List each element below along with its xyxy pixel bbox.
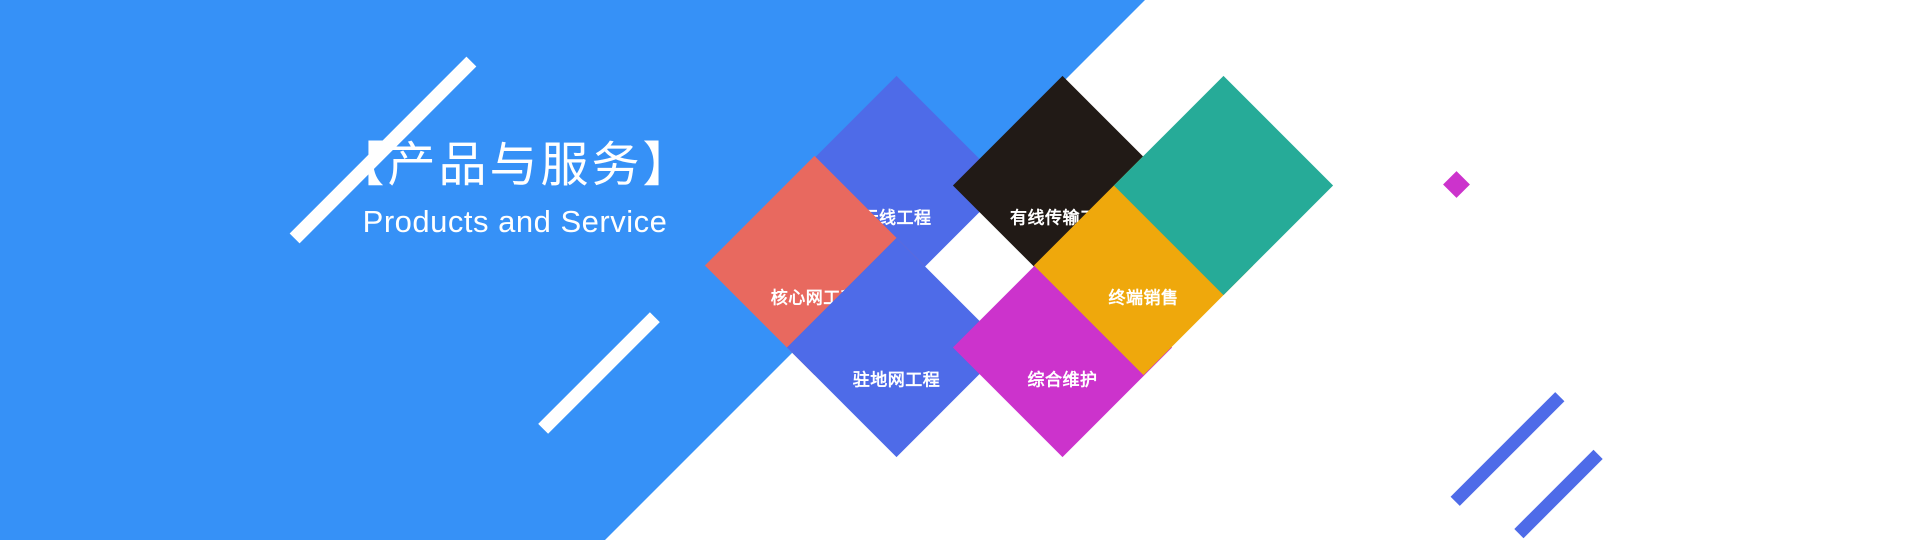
blue-diagonal-stripe-inner [1514, 450, 1602, 538]
small-magenta-diamond [1443, 171, 1470, 198]
products-and-service-banner: 【产品与服务】 Products and Service 无线工程核心网工程驻地… [0, 0, 1920, 540]
diamond-tile-label: 综合维护 [1028, 365, 1098, 390]
diamond-tile-label: 驻地网工程 [853, 365, 941, 390]
diamond-tile-label: 终端销售 [1109, 283, 1179, 308]
blue-diagonal-stripe-outer [1451, 392, 1565, 506]
